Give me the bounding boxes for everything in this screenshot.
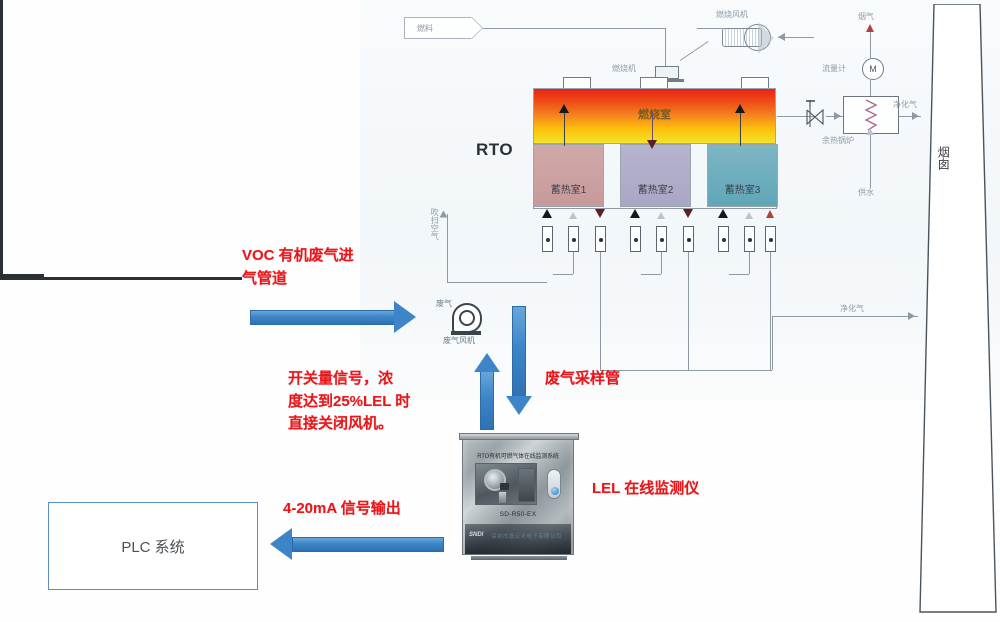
status-led-icon bbox=[551, 487, 559, 495]
cabinet-brand-subtitle: 深圳市逸云天电子有限公司 bbox=[491, 532, 562, 540]
annotation-sampling-pipe: 废气采样管 bbox=[545, 368, 620, 391]
waste-gas-label: 废气 bbox=[436, 299, 452, 308]
purge-loop-2 bbox=[641, 274, 661, 275]
annotation-switch-signal: 开关量信号，浓 度达到25%LEL 时 直接关闭风机。 bbox=[288, 368, 410, 436]
switch-signal-arrow-body bbox=[480, 370, 494, 430]
valve-2c-riser bbox=[688, 252, 689, 370]
sensor-probe bbox=[498, 491, 507, 504]
status-indicator-panel bbox=[547, 469, 561, 499]
flow-meter-label: 流量计 bbox=[822, 64, 846, 73]
chamber1-flow-up-arrow-icon bbox=[559, 104, 569, 113]
purge-air-arrow-icon bbox=[440, 211, 448, 218]
valve-1c-riser bbox=[600, 252, 601, 370]
valve-2a bbox=[630, 226, 641, 252]
valve-2b bbox=[656, 226, 667, 252]
chamber2-flow-down-arrow-icon bbox=[647, 140, 657, 149]
valve-2c-arrow-icon bbox=[683, 209, 693, 218]
clean-gas-to-stack-riser bbox=[772, 316, 773, 370]
valve-1b bbox=[568, 226, 579, 252]
plc-signal-arrow-head bbox=[270, 528, 292, 560]
valve-3b-arrow-icon bbox=[745, 212, 753, 219]
valve-3a bbox=[718, 226, 729, 252]
valve-3a-riser bbox=[0, 196, 3, 274]
chamber3-flow-line bbox=[740, 112, 741, 146]
valve-1b-arrow-icon bbox=[569, 212, 577, 219]
waste-gas-fan-base bbox=[451, 331, 481, 335]
clean-gas-stack-arrow-icon bbox=[908, 312, 915, 320]
lel-monitor-cabinet[interactable]: RTO有机可燃气体在线监测系统 SD-R50-EX SNDI 深圳市逸云天电子有… bbox=[462, 437, 574, 555]
cabinet-viewing-window bbox=[475, 463, 537, 505]
chamber-nozzle-2 bbox=[640, 77, 668, 88]
voc-inlet-arrow-body bbox=[250, 310, 396, 325]
gauge-display bbox=[500, 483, 509, 490]
sampling-arrow-body bbox=[512, 306, 526, 398]
gas-detector-gauge bbox=[484, 469, 506, 491]
valve-3b-drop bbox=[749, 252, 750, 274]
feed-water-arrow-icon bbox=[866, 128, 874, 135]
waste-heat-boiler-label: 余热锅炉 bbox=[822, 136, 854, 145]
chamber-nozzle-3 bbox=[741, 77, 769, 88]
fuel-pipe-horizontal bbox=[483, 28, 666, 29]
clean-gas-header bbox=[600, 370, 772, 371]
purified-gas-label-bottom: 净化气 bbox=[840, 304, 864, 313]
cabinet-base bbox=[471, 556, 567, 560]
valve-1a-arrow-icon bbox=[542, 209, 552, 218]
motor-icon: M bbox=[862, 58, 884, 80]
valve-3c-riser bbox=[770, 252, 771, 370]
regenerator-chamber-1-label: 蓄热室1 bbox=[551, 181, 587, 196]
waste-gas-fan bbox=[452, 303, 484, 333]
plc-system-label: PLC 系统 bbox=[121, 536, 184, 557]
purge-air-line-vertical bbox=[447, 214, 448, 282]
voc-inlet-arrow-head bbox=[394, 301, 416, 333]
valve-1c-arrow-icon bbox=[595, 209, 605, 218]
feed-water-line bbox=[870, 134, 871, 188]
annotation-lel-monitor: LEL 在线监测仪 bbox=[592, 478, 699, 501]
waste-gas-header bbox=[0, 277, 242, 280]
regenerator-chamber-1: 蓄热室1 bbox=[533, 144, 604, 207]
cabinet-model-label: SD-R50-EX bbox=[463, 511, 573, 518]
clean-gas-to-stack-line bbox=[772, 316, 918, 317]
valve-3c bbox=[765, 226, 776, 252]
stack-label-text: 烟囱 bbox=[936, 146, 949, 170]
stack-label: 烟囱 bbox=[936, 146, 949, 173]
hot-gas-outlet-line bbox=[777, 116, 801, 117]
switch-signal-arrow-head bbox=[474, 353, 500, 372]
flue-gas-arrow-icon bbox=[866, 24, 874, 32]
purified-gas-label: 净化气 bbox=[893, 100, 917, 109]
flue-gas-line-upper bbox=[870, 30, 871, 58]
valve-1c bbox=[595, 226, 606, 252]
diagram-canvas: 燃料 燃烧机 燃烧风机 燃烧室 RTO 蓄热室1 蓄热室2 蓄热室3 bbox=[0, 0, 1000, 622]
fuel-pipe-drop bbox=[665, 28, 666, 68]
waste-gas-fan-impeller bbox=[459, 310, 475, 326]
air-inlet-arrow-icon bbox=[778, 33, 785, 41]
purge-air-label: 吹扫空气 bbox=[430, 208, 439, 240]
purge-loop-1 bbox=[553, 274, 573, 275]
flue-gas-line-lower bbox=[870, 80, 871, 96]
internal-controller bbox=[518, 468, 535, 502]
waste-gas-fan-label: 废气风机 bbox=[443, 336, 475, 345]
burner-label: 燃烧机 bbox=[612, 64, 636, 73]
boiler-inlet-arrow-icon bbox=[834, 112, 841, 120]
flue-gas-label: 烟气 bbox=[858, 12, 874, 21]
valve-2b-arrow-icon bbox=[657, 212, 665, 219]
cabinet-panel-title: RTO有机可燃气体在线监测系统 bbox=[463, 451, 573, 460]
valve-2b-drop bbox=[661, 252, 662, 274]
rto-shell-bottom bbox=[533, 208, 777, 209]
fuel-tag: 燃料 bbox=[404, 17, 472, 39]
annotation-signal-output: 4-20mA 信号输出 bbox=[283, 498, 401, 521]
combustion-fan-outlet bbox=[697, 28, 723, 29]
regenerator-chamber-2: 蓄热室2 bbox=[620, 144, 691, 207]
annotation-voc-inlet: VOC 有机废气进 气管道 bbox=[242, 245, 354, 290]
valve-1b-drop bbox=[573, 252, 574, 274]
plc-signal-arrow-body bbox=[292, 537, 444, 552]
regenerator-chamber-3-label: 蓄热室3 bbox=[725, 181, 761, 196]
valve-2c bbox=[683, 226, 694, 252]
feed-water-label: 供水 bbox=[858, 188, 874, 197]
regenerator-chamber-2-label: 蓄热室2 bbox=[638, 181, 674, 196]
chamber-nozzle-1 bbox=[563, 77, 591, 88]
valve-2a-riser bbox=[0, 98, 3, 196]
valve-3b bbox=[744, 226, 755, 252]
cabinet-brand-label: SNDI bbox=[469, 532, 483, 538]
chamber1-flow-line bbox=[564, 112, 565, 146]
purge-air-line-horizontal bbox=[447, 282, 547, 283]
sampling-arrow-head bbox=[506, 396, 532, 415]
regenerator-chamber-3: 蓄热室3 bbox=[707, 144, 778, 207]
plc-system-box[interactable]: PLC 系统 bbox=[48, 502, 258, 590]
purge-loop-3 bbox=[729, 274, 749, 275]
valve-3a-arrow-icon bbox=[718, 209, 728, 218]
combustion-fan-label: 燃烧风机 bbox=[716, 10, 748, 19]
chamber3-flow-up-arrow-icon bbox=[735, 104, 745, 113]
fuel-label: 燃料 bbox=[417, 23, 433, 34]
chamber2-flow-line bbox=[652, 112, 653, 142]
valve-1a bbox=[542, 226, 553, 252]
rto-label: RTO bbox=[476, 140, 513, 160]
valve-2a-arrow-icon bbox=[630, 209, 640, 218]
cabinet-top-cover bbox=[459, 433, 579, 440]
motor-label: M bbox=[869, 64, 877, 74]
valve-1a-riser bbox=[0, 0, 3, 98]
combustion-fan-cone bbox=[758, 22, 774, 54]
stack-shape bbox=[918, 4, 998, 616]
valve-3c-arrow-icon bbox=[766, 210, 774, 218]
